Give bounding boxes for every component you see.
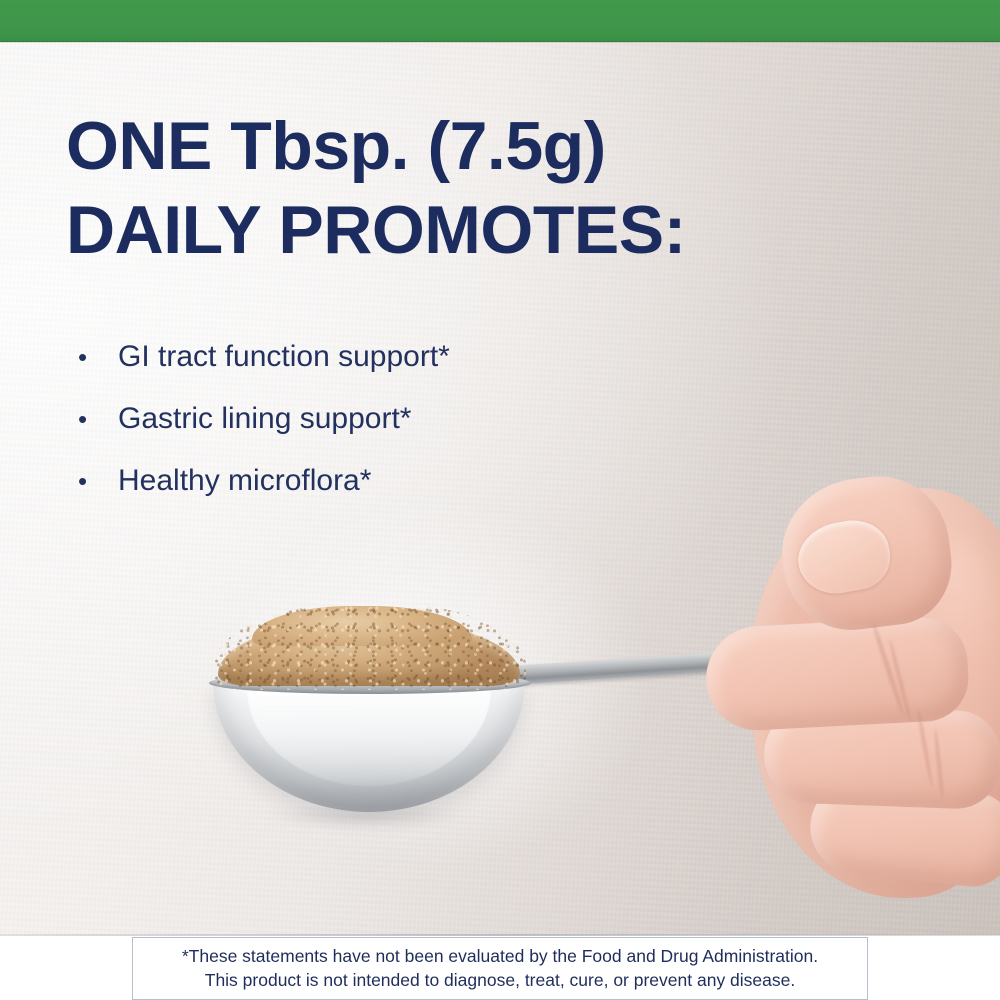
- headline-line-1: ONE Tbsp. (7.5g): [66, 104, 886, 188]
- hand-holding-spoon: [690, 470, 1000, 900]
- headline-line-2: DAILY PROMOTES:: [66, 188, 886, 272]
- benefit-label: GI tract function support*: [118, 326, 778, 388]
- green-band-edge: [0, 41, 1000, 43]
- fda-disclaimer: *These statements have not been evaluate…: [132, 937, 868, 1000]
- footer: *These statements have not been evaluate…: [0, 936, 1000, 1000]
- product-photo: [0, 440, 1000, 940]
- disclaimer-line-1: *These statements have not been evaluate…: [143, 944, 857, 968]
- list-item: • GI tract function support*: [78, 326, 778, 388]
- page-title: ONE Tbsp. (7.5g) DAILY PROMOTES:: [66, 104, 886, 272]
- product-info-panel: ONE Tbsp. (7.5g) DAILY PROMOTES: • GI tr…: [0, 0, 1000, 1000]
- disclaimer-line-2: This product is not intended to diagnose…: [143, 968, 857, 992]
- bullet-icon: •: [78, 326, 118, 388]
- spoon-bowl: [213, 680, 525, 812]
- green-accent-band: [0, 0, 1000, 42]
- powder-grain-texture: [214, 602, 526, 690]
- spoon-bowl-highlight: [247, 688, 491, 786]
- index-finger: [703, 615, 970, 733]
